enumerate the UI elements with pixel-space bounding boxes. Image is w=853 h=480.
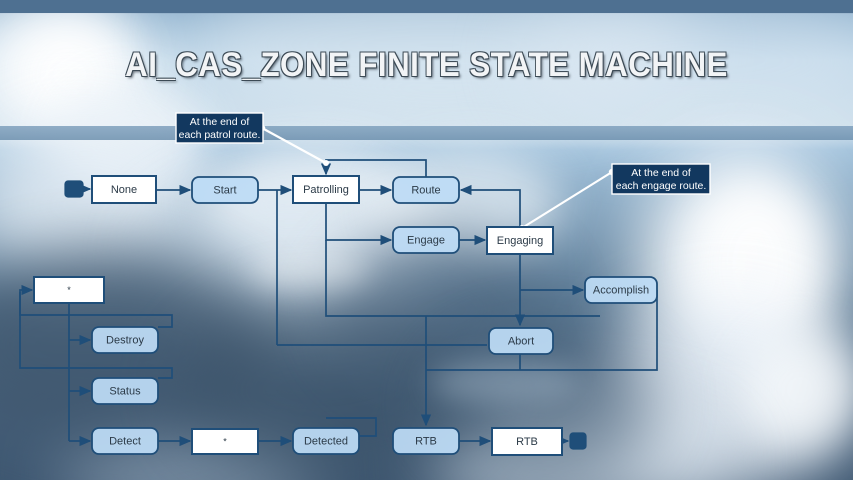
node-label: Route	[411, 184, 440, 196]
edge-patrolling-bus	[326, 240, 600, 316]
node-end-terminator[interactable]	[570, 433, 586, 449]
node-shape	[65, 181, 83, 197]
node-detected[interactable]: Detected	[293, 428, 359, 454]
callout-line: At the end of	[190, 116, 250, 128]
callout-line: each patrol route.	[179, 129, 261, 141]
node-start-terminator[interactable]	[65, 181, 83, 197]
node-label: Destroy	[106, 334, 144, 346]
node-route[interactable]: Route	[393, 177, 459, 203]
node-label: Patrolling	[303, 184, 349, 196]
slide-canvas: AI_CAS_ZONE FINITE STATE MACHINE	[0, 0, 853, 480]
node-rtb-blue[interactable]: RTB	[393, 428, 459, 454]
state-machine-diagram: NoneStartPatrollingRouteEngageEngagingAc…	[0, 0, 853, 480]
callout-line: At the end of	[631, 167, 691, 179]
node-label: RTB	[516, 436, 538, 448]
node-none[interactable]: None	[92, 176, 156, 203]
node-label: Start	[213, 184, 236, 196]
edge-patrolling-engage	[326, 203, 391, 240]
edge-route-patrolling-loop	[326, 160, 426, 177]
edge-engaging-route	[461, 190, 520, 227]
node-label: *	[67, 285, 71, 295]
node-label: Status	[109, 385, 141, 397]
leader-patrol	[262, 128, 326, 163]
node-label: None	[111, 184, 137, 196]
node-destroy[interactable]: Destroy	[92, 327, 158, 353]
node-patrolling[interactable]: Patrolling	[293, 176, 359, 203]
node-label: Detect	[109, 435, 141, 447]
node-accomplish[interactable]: Accomplish	[585, 277, 657, 303]
node-label: Accomplish	[593, 284, 649, 296]
node-start[interactable]: Start	[192, 177, 258, 203]
node-label: *	[223, 436, 227, 446]
node-rtb-white[interactable]: RTB	[492, 428, 562, 455]
node-shape	[570, 433, 586, 449]
node-status[interactable]: Status	[92, 378, 158, 404]
node-label: Engage	[407, 234, 445, 246]
node-star-bottom[interactable]: *	[192, 429, 258, 454]
callout-patrol[interactable]: At the end ofeach patrol route.	[176, 113, 263, 143]
node-engage[interactable]: Engage	[393, 227, 459, 253]
leader-patrol-endpoint	[323, 160, 329, 166]
node-label: Engaging	[497, 235, 544, 247]
node-engaging[interactable]: Engaging	[487, 227, 553, 254]
node-label: Abort	[508, 335, 534, 347]
node-detect[interactable]: Detect	[92, 428, 158, 454]
node-label: Detected	[304, 435, 348, 447]
node-abort[interactable]: Abort	[489, 328, 553, 354]
callout-engage[interactable]: At the end ofeach engage route.	[612, 164, 710, 194]
callout-line: each engage route.	[616, 180, 707, 192]
leader-engage	[522, 172, 612, 228]
node-star-left[interactable]: *	[34, 277, 104, 303]
node-label: RTB	[415, 435, 437, 447]
